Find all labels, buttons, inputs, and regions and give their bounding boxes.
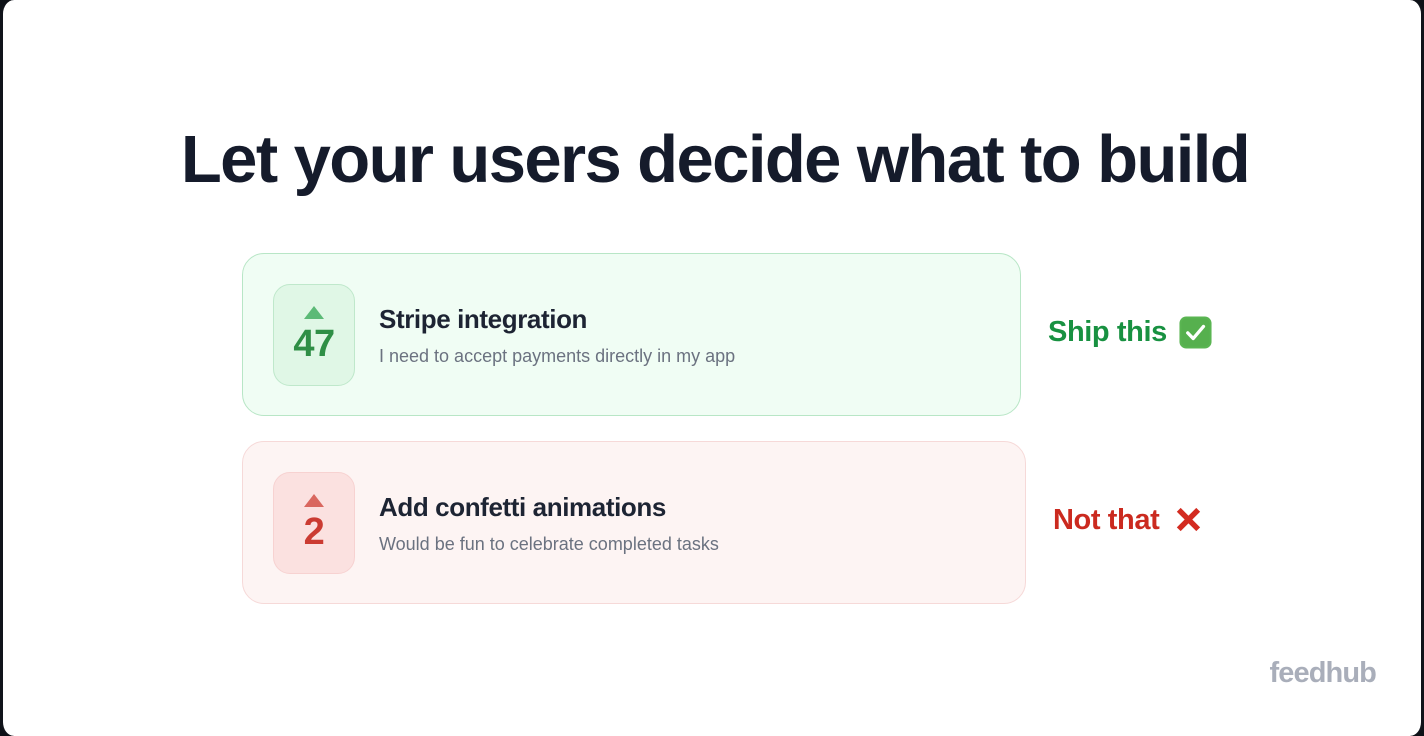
vote-count: 2: [304, 512, 325, 552]
card-description: Would be fun to celebrate completed task…: [379, 532, 719, 556]
verdict-ship-this: Ship this: [1048, 315, 1213, 350]
white-check-mark-emoji: [1178, 315, 1213, 350]
upvote-triangle-icon: [304, 306, 324, 319]
verdict-not-that: Not that: [1053, 503, 1205, 538]
brand-logo: feedhub: [1270, 657, 1376, 690]
card-text: Stripe integration I need to accept paym…: [379, 302, 735, 368]
vote-count: 47: [293, 324, 334, 364]
verdict-label: Not that: [1053, 504, 1159, 537]
page-title: Let your users decide what to build: [3, 117, 1424, 203]
vote-button[interactable]: 47: [273, 284, 355, 386]
feature-card-add-confetti-animations[interactable]: 2 Add confetti animations Would be fun t…: [242, 441, 1026, 604]
cross-mark-emoji: [1170, 503, 1205, 538]
upvote-triangle-icon: [304, 494, 324, 507]
verdict-label: Ship this: [1048, 316, 1167, 349]
feature-card-stripe-integration[interactable]: 47 Stripe integration I need to accept p…: [242, 253, 1021, 416]
slide-canvas: Let your users decide what to build 47 S…: [0, 0, 1424, 736]
card-title: Stripe integration: [379, 302, 735, 336]
card-description: I need to accept payments directly in my…: [379, 344, 735, 368]
list-item: 47 Stripe integration I need to accept p…: [242, 253, 1202, 416]
card-title: Add confetti animations: [379, 490, 719, 524]
feature-request-list: 47 Stripe integration I need to accept p…: [242, 253, 1202, 604]
vote-button[interactable]: 2: [273, 472, 355, 574]
list-item: 2 Add confetti animations Would be fun t…: [242, 441, 1202, 604]
card-text: Add confetti animations Would be fun to …: [379, 490, 719, 556]
